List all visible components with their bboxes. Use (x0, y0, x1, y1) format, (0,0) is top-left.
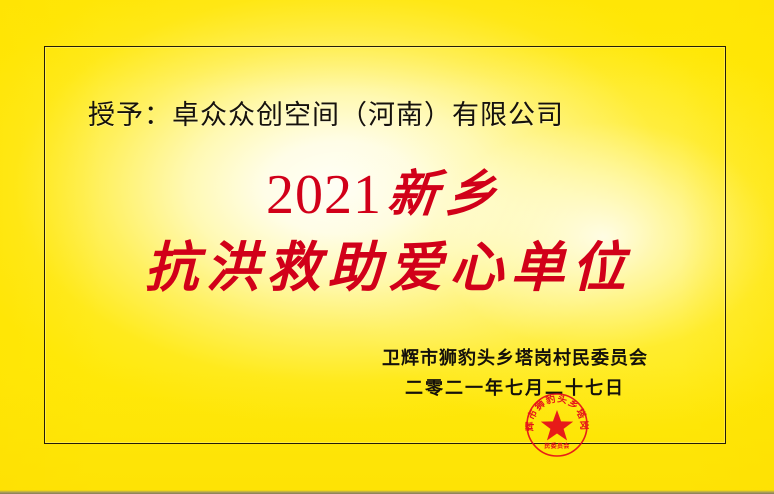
plate-bottom-edge (0, 490, 774, 494)
title-year: 2021 (266, 164, 382, 226)
title-block: 2021 新乡 抗洪救助爱心单位 (44, 164, 726, 300)
title-line-2: 抗洪救助爱心单位 (44, 236, 726, 300)
signature-block: 卫辉市狮豹头乡塔岗村民委员会 二零二一年七月二十七日 (370, 346, 660, 402)
issuing-organization: 卫辉市狮豹头乡塔岗村民委员会 (370, 346, 660, 372)
recipient-line: 授予：卓众众创空间（河南）有限公司 (88, 98, 564, 132)
title-city: 新乡 (385, 164, 507, 224)
issue-date: 二零二一年七月二十七日 (370, 376, 660, 402)
title-line-1: 2021 新乡 (44, 164, 726, 224)
svg-text:民委员会: 民委员会 (544, 442, 570, 450)
plaque-content: 授予：卓众众创空间（河南）有限公司 2021 新乡 抗洪救助爱心单位 卫辉市狮豹… (44, 46, 726, 444)
award-plaque: 授予：卓众众创空间（河南）有限公司 2021 新乡 抗洪救助爱心单位 卫辉市狮豹… (0, 0, 774, 494)
